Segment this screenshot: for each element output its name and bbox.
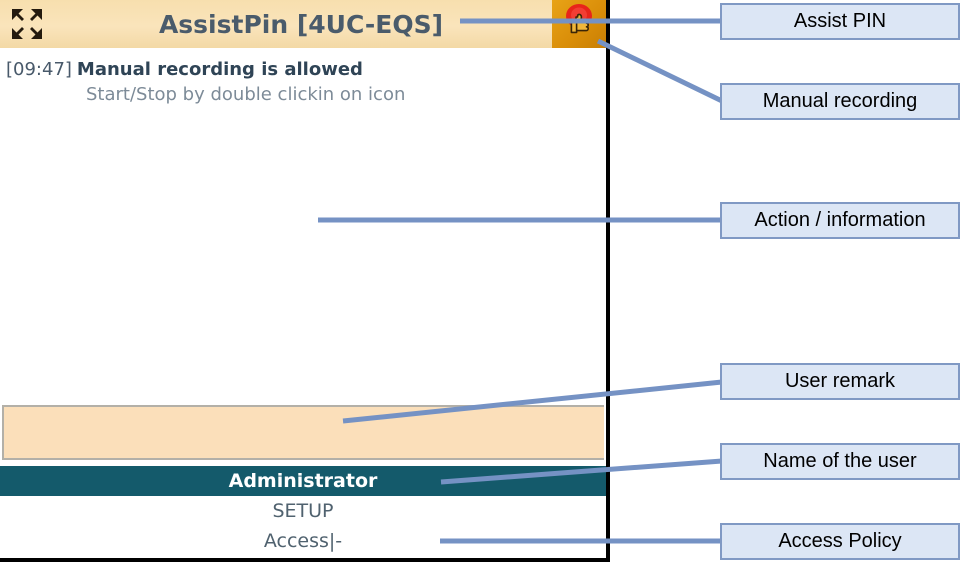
hand-record-icon[interactable] <box>552 0 606 48</box>
callout-action-information[interactable]: Action / information <box>720 202 960 239</box>
log-detail: Start/Stop by double clickin on icon <box>6 82 600 107</box>
access-policy-line-2: Access|- <box>0 526 606 556</box>
collapse-arrows-icon[interactable] <box>0 0 54 48</box>
log-message: Manual recording is allowed <box>77 59 363 80</box>
device-screen-panel: AssistPin [4UC-EQS] [09:47]Manual record… <box>0 0 610 562</box>
action-information-log[interactable]: [09:47]Manual recording is allowed Start… <box>0 48 606 403</box>
title-bar: AssistPin [4UC-EQS] <box>0 0 606 48</box>
callout-access-policy[interactable]: Access Policy <box>720 523 960 560</box>
callout-assist-pin[interactable]: Assist PIN <box>720 3 960 40</box>
callout-label: Manual recording <box>763 90 918 113</box>
user-remark-input[interactable] <box>4 407 604 458</box>
access-policy-line-1: SETUP <box>0 496 606 526</box>
callout-label: Access Policy <box>778 530 901 553</box>
user-name-bar: Administrator <box>0 466 606 496</box>
user-name-label: Administrator <box>229 470 378 492</box>
callout-manual-recording[interactable]: Manual recording <box>720 83 960 120</box>
callout-label: User remark <box>785 370 895 393</box>
log-entry-header: [09:47]Manual recording is allowed <box>6 58 600 82</box>
callout-label: Action / information <box>754 209 925 232</box>
leader-line-manual-recording <box>598 41 722 101</box>
log-entry: [09:47]Manual recording is allowed Start… <box>0 58 606 107</box>
callout-user-remark[interactable]: User remark <box>720 363 960 400</box>
callout-label: Assist PIN <box>794 10 886 33</box>
log-timestamp: [09:47] <box>6 59 72 80</box>
callout-label: Name of the user <box>763 450 916 473</box>
user-remark-field[interactable] <box>2 405 604 460</box>
access-policy-area: SETUP Access|- <box>0 496 606 558</box>
callout-user-name[interactable]: Name of the user <box>720 443 960 480</box>
page-title: AssistPin [4UC-EQS] <box>54 10 552 39</box>
